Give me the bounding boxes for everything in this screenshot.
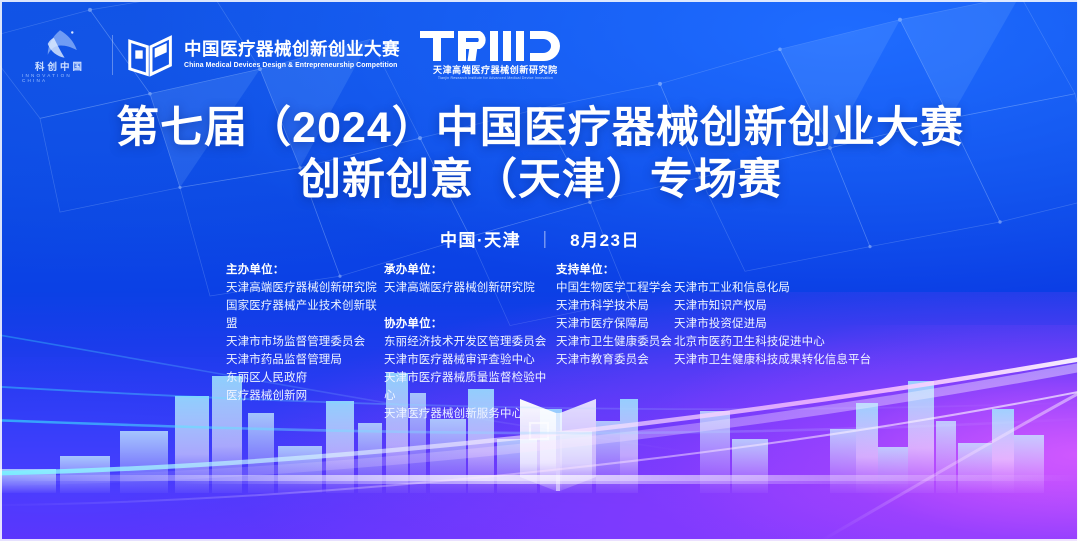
bird-mark-icon [37,27,83,61]
org-item: 东丽经济技术开发区管理委员会 [384,333,556,351]
org-heading-supporter: 支持单位： [556,261,674,279]
org-item: 天津高端医疗器械创新研究院 [384,279,556,297]
open-book-logo-icon [127,33,175,77]
org-item: 天津市药品监督管理局 [226,351,384,369]
org-heading-coorganizer: 协办单位： [384,315,556,333]
subtitle-date: 8月23日 [570,231,640,250]
org-item: 天津市市场监督管理委员会 [226,333,384,351]
org-item: 国家医疗器械产业技术创新联盟 [226,297,384,333]
org-column-organizer: 承办单位： 天津高端医疗器械创新研究院 协办单位： 东丽经济技术开发区管理委员会… [384,261,556,423]
competition-en-label: China Medical Devices Design & Entrepren… [184,61,397,69]
org-item: 天津市投资促进局 [674,315,874,333]
logo-competition: 中国医疗器械创新创业大赛 China Medical Devices Desig… [127,24,406,86]
subtitle-location: 中国·天津 [440,231,521,250]
org-item: 天津市卫生健康科技成果转化信息平台 [674,351,874,369]
org-item: 医疗器械创新网 [226,387,384,405]
organizations-block: 主办单位： 天津高端医疗器械创新研究院 国家医疗器械产业技术创新联盟 天津市市场… [226,261,874,423]
org-column-supporter-a: 支持单位： 中国生物医学工程学会 天津市科学技术局 天津市医疗保障局 天津市卫生… [556,261,674,369]
org-item: 天津市教育委员会 [556,351,674,369]
org-item: 天津市科学技术局 [556,297,674,315]
logo-bar: 科创中国 INNOVATION CHINA 中国医疗器械创新创业大赛 China… [22,24,570,86]
innovation-china-cn-label: 科创中国 [35,63,85,73]
org-item: 天津市医疗器械审评查验中心 [384,351,556,369]
poster-title: 第七届（2024）中国医疗器械创新创业大赛 创新创意（天津）专场赛 [0,104,1080,204]
org-item: 天津市医疗保障局 [556,315,674,333]
innovation-china-en-label: INNOVATION CHINA [22,74,98,83]
competition-text: 中国医疗器械创新创业大赛 China Medical Devices Desig… [184,40,406,70]
triid-en-label: Tianjin Research Institute for Advanced … [438,77,553,81]
triid-wordmark-icon [420,29,570,63]
org-column-spacer [384,297,556,315]
org-item: 北京市医药卫生科技促进中心 [674,333,874,351]
subtitle-separator: ｜ [536,226,555,251]
logo-divider-1 [112,35,113,75]
title-line-1: 第七届（2024）中国医疗器械创新创业大赛 [0,104,1080,152]
logo-innovation-china: 科创中国 INNOVATION CHINA [22,24,98,86]
org-item: 天津高端医疗器械创新研究院 [226,279,384,297]
org-item: 天津医疗器械创新服务中心 [384,405,556,423]
poster-subtitle: 中国·天津 ｜ 8月23日 [0,226,1080,251]
org-column-supporter-b: 天津市工业和信息化局 天津市知识产权局 天津市投资促进局 北京市医药卫生科技促进… [674,261,874,369]
org-item: 天津市工业和信息化局 [674,279,874,297]
org-item: 天津市知识产权局 [674,297,874,315]
title-line-2: 创新创意（天津）专场赛 [0,156,1080,204]
org-item: 天津市卫生健康委员会 [556,333,674,351]
org-item: 中国生物医学工程学会 [556,279,674,297]
logo-triid: 天津高端医疗器械创新研究院 Tianjin Research Institute… [420,24,570,86]
org-column4-spacer [674,261,874,279]
competition-cn-label: 中国医疗器械创新创业大赛 [184,40,406,59]
triid-cn-label: 天津高端医疗器械创新研究院 [433,66,558,75]
poster-canvas: 科创中国 INNOVATION CHINA 中国医疗器械创新创业大赛 China… [0,0,1080,541]
org-heading-organizer: 承办单位： [384,261,556,279]
org-column-host: 主办单位： 天津高端医疗器械创新研究院 国家医疗器械产业技术创新联盟 天津市市场… [226,261,384,405]
org-item: 东丽区人民政府 [226,369,384,387]
org-item: 天津市医疗器械质量监督检验中心 [384,369,556,405]
org-heading-host: 主办单位： [226,261,384,279]
